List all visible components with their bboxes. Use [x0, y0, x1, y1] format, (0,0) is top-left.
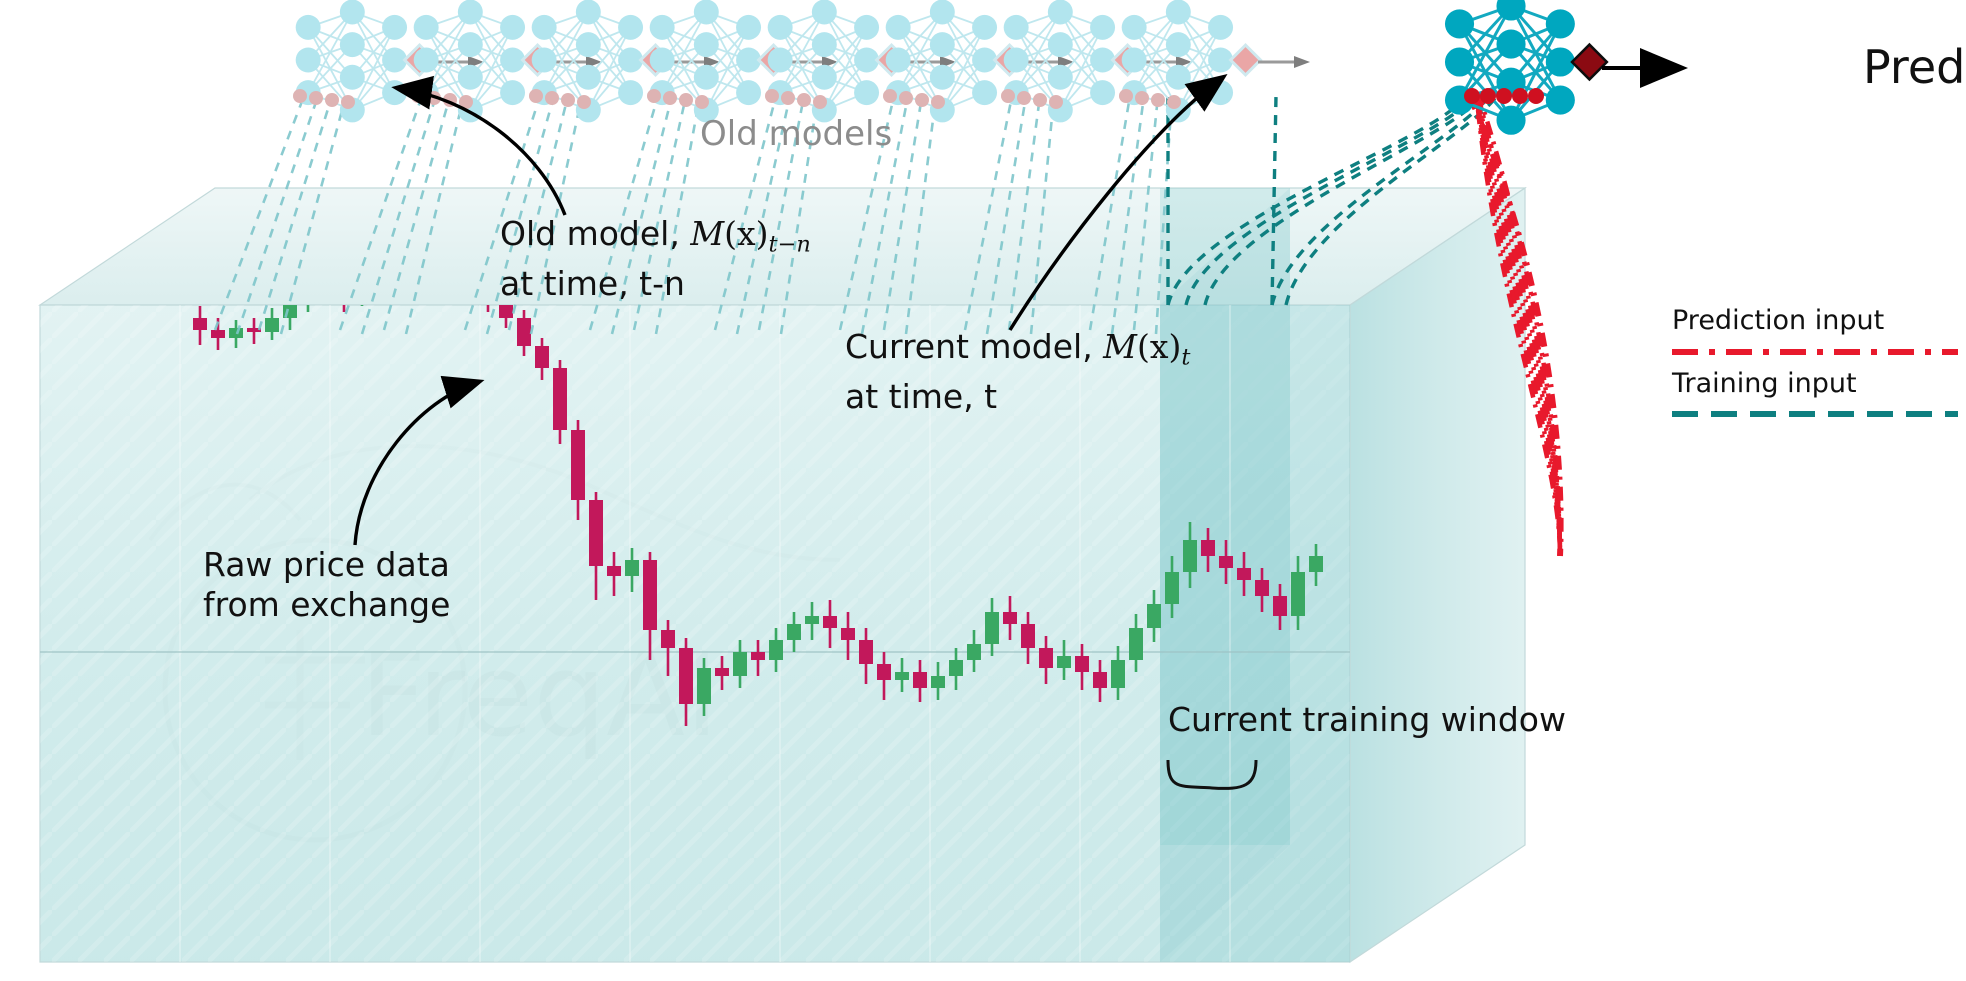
old-models-label: Old models [700, 114, 892, 154]
annotation-raw-line1: Raw price data [203, 545, 450, 585]
current-training-window-label: Current training window [1168, 700, 1566, 739]
annotation-current-model-line1: Current model, M(x)t [845, 327, 1190, 377]
diagram-canvas: FreqAI [0, 0, 1966, 981]
legend-label-training-input: Training input [1672, 368, 1857, 399]
annotation-old-model-line2: at time, t-n [500, 264, 811, 304]
legend-label-prediction-input: Prediction input [1672, 305, 1884, 336]
legend-layer [0, 0, 1966, 981]
annotation-old-model: Old model, M(x)t−n at time, t-n [500, 214, 811, 304]
annotation-raw-line2: from exchange [203, 585, 450, 625]
annotation-raw-price-data: Raw price data from exchange [203, 545, 450, 625]
prediction-label: Prediction [1863, 40, 1966, 94]
annotation-current-model: Current model, M(x)t at time, t [845, 327, 1190, 417]
annotation-old-model-line1: Old model, M(x)t−n [500, 214, 811, 264]
annotation-current-model-line2: at time, t [845, 377, 1190, 417]
